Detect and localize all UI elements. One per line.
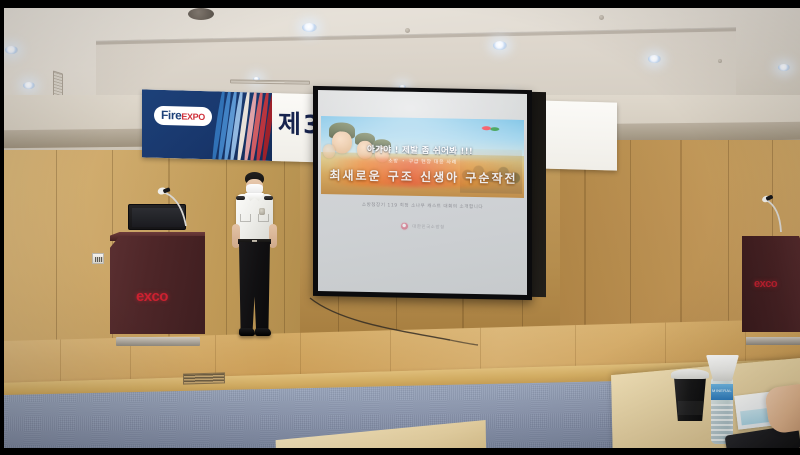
person-pocket-left [240,214,251,222]
expo-logo-word: EXPO [181,111,204,122]
person-shoe-right [255,328,271,336]
podium-left[interactable]: exco [110,222,205,342]
person-epaulette-left [236,196,245,200]
podium-right-body: exco [742,236,800,332]
slide-emblem-icon [476,121,502,135]
wall-outlet-icon [92,253,104,264]
coffee-cup-lid [671,369,709,379]
slide-subhead: 최새로운 구조 신생아 구순작전 [329,166,518,187]
podium-left-body: exco [110,236,205,334]
ceiling-speaker-icon [188,8,214,20]
microphone-right-icon [754,192,800,236]
smoke-detector-icon-4 [599,15,604,20]
podium-right-base [746,337,800,345]
person-arm-right [269,224,277,248]
ceiling-downlight-6 [778,64,790,71]
letterbox-bottom [0,448,800,455]
coffee-cup-body [674,377,706,421]
person-trousers [239,242,270,330]
slide-caption: 소방청장기 119 최정 소나무 캐스트 대회의 소개합니다 [318,201,527,211]
ceiling-downlight-5 [23,82,35,89]
coffee-cup [673,369,707,421]
ceiling-downlight-4 [648,55,661,63]
stage-floor-vent-icon [183,372,225,384]
coffee-cup-sleeve [678,401,703,415]
water-bottle: MINERAL [708,356,736,446]
water-bottle-label-text: MINERAL [711,388,733,393]
person-shoe-left [239,328,255,336]
podium-left-base [116,337,200,346]
banner-logo-block: FireEXPO [142,89,272,161]
photo-canvas: FireEXPO 제3회 경진대회 상황실 [0,0,800,455]
slide-hero-image: 아가야 ! 제발 좀 쉬어봐 !!! 소방 ・ 구급 현장 대응 사례 최새로운… [321,116,524,198]
podium-right[interactable]: exco [742,226,800,342]
fire-logo-word: Fire [161,108,181,123]
projector-cable [300,296,480,350]
slide-footer-org: 대한민국소방청 [412,223,444,230]
inverted-paper-cup [706,355,739,381]
letterbox-right [0,0,4,455]
fire-expo-logo: FireEXPO [154,106,212,127]
person-pocket-right [258,214,269,222]
letterbox-top [0,0,800,8]
person-epaulette-right [264,196,273,200]
smoke-detector-icon-1 [405,28,410,33]
projection-screen-surface: 아가야 ! 제발 좀 쉬어봐 !!! 소방 ・ 구급 현장 대응 사례 최새로운… [318,90,527,295]
smoke-detector-icon-2 [718,59,722,63]
projection-screen: 아가야 ! 제발 좀 쉬어봐 !!! 소방 ・ 구급 현장 대응 사례 최새로운… [313,86,532,300]
podium-left-logo: exco [136,288,168,305]
projection-screen-frame: 아가야 ! 제발 좀 쉬어봐 !!! 소방 ・ 구급 현장 대응 사례 최새로운… [313,86,532,300]
slide-footer: 대한민국소방청 [318,220,527,233]
wall-dark-gap [532,92,546,297]
presenter-person [228,172,280,344]
person-arm-left [232,224,240,248]
water-bottle-label: MINERAL [711,384,733,400]
organization-emblem-icon [400,222,409,231]
ceiling-downlight-1 [302,23,317,32]
ceiling-downlight-3 [493,41,507,50]
podium-right-logo: exco [754,278,777,290]
ceiling-downlight-2 [5,46,18,54]
microphone-left-icon [156,182,204,230]
